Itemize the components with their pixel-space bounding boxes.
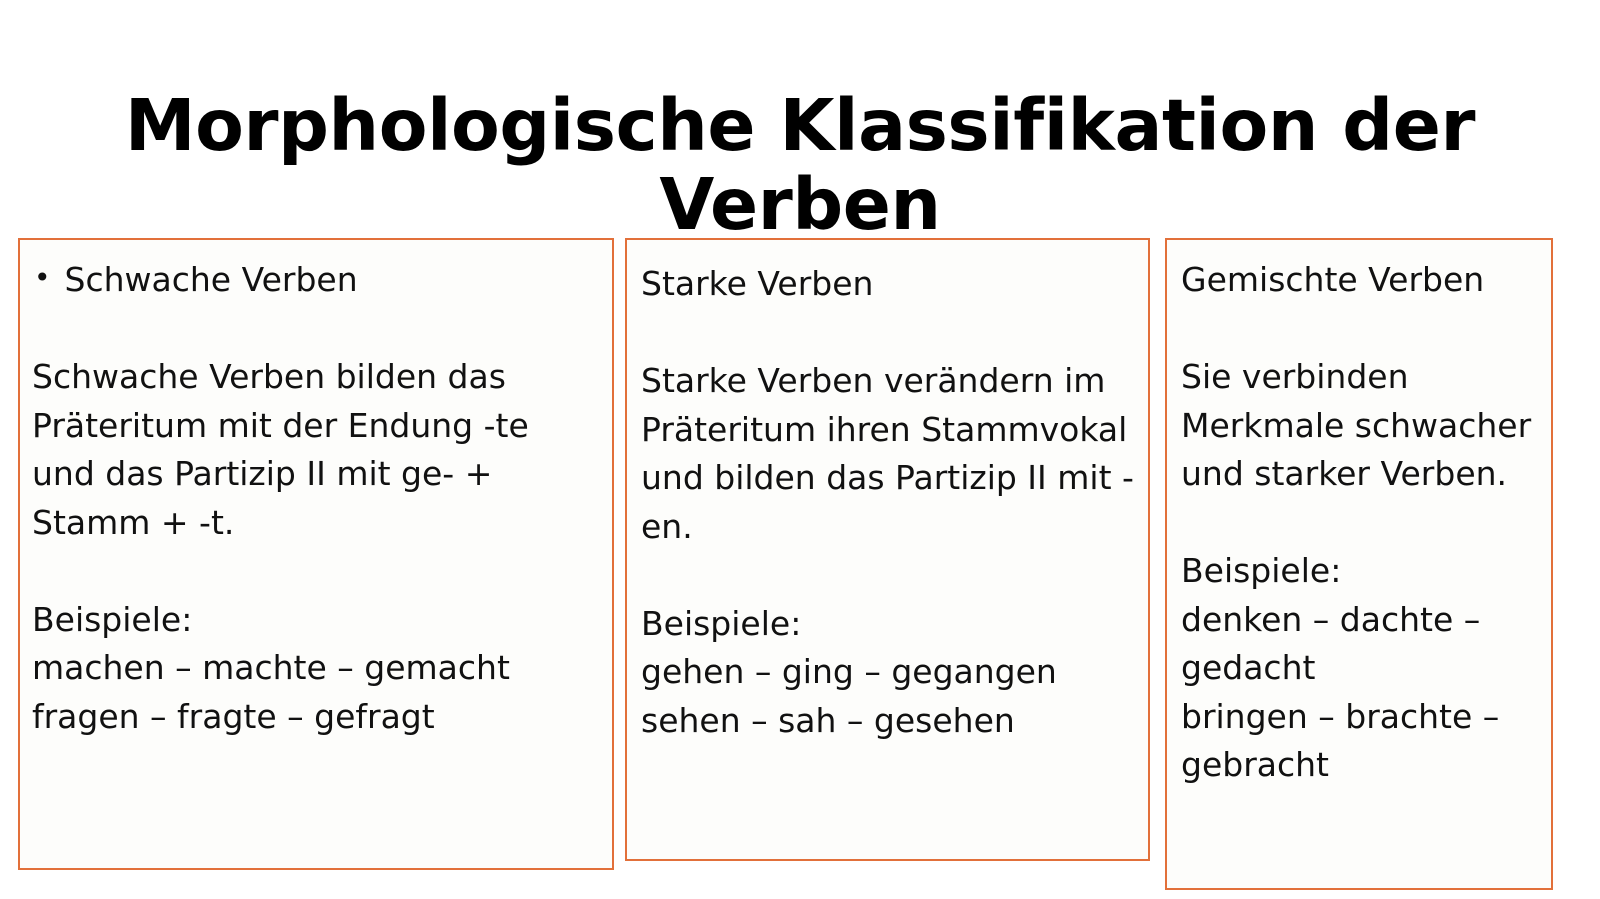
column-body-text: Sie verbinden Merkmale schwacher und sta… bbox=[1181, 353, 1541, 499]
slide-canvas: Morphologische Klassifikation der Verben… bbox=[0, 0, 1600, 899]
content-box-starke-verben: Starke Verben Starke Verben verändern im… bbox=[625, 238, 1150, 861]
page-title: Morphologische Klassifikation der Verben bbox=[0, 86, 1600, 245]
examples-label: Beispiele: bbox=[1181, 547, 1541, 596]
content-box-schwache-verben: • Schwache Verben Schwache Verben bilden… bbox=[18, 238, 614, 870]
examples-label: Beispiele: bbox=[32, 596, 602, 645]
spacer bbox=[1181, 305, 1541, 354]
bullet-icon: • bbox=[34, 264, 51, 292]
examples-list: machen – machte – gemacht fragen – fragt… bbox=[32, 644, 602, 741]
column-heading: Gemischte Verben bbox=[1181, 256, 1541, 305]
content-box-gemischte-verben: Gemischte Verben Sie verbinden Merkmale … bbox=[1165, 238, 1553, 890]
column-heading: Starke Verben bbox=[641, 260, 1138, 309]
spacer bbox=[32, 547, 602, 596]
spacer bbox=[641, 309, 1138, 358]
spacer bbox=[641, 551, 1138, 600]
examples-list: denken – dachte – gedacht bringen – brac… bbox=[1181, 596, 1541, 790]
spacer bbox=[1181, 499, 1541, 548]
spacer bbox=[32, 305, 602, 354]
examples-list: gehen – ging – gegangen sehen – sah – ge… bbox=[641, 648, 1138, 745]
column-heading: Schwache Verben bbox=[65, 256, 602, 305]
column-body-text: Starke Verben verändern im Präteritum ih… bbox=[641, 357, 1138, 551]
column-heading-row: • Schwache Verben bbox=[34, 256, 602, 305]
column-body-text: Schwache Verben bilden das Präteritum mi… bbox=[32, 353, 602, 547]
examples-label: Beispiele: bbox=[641, 600, 1138, 649]
